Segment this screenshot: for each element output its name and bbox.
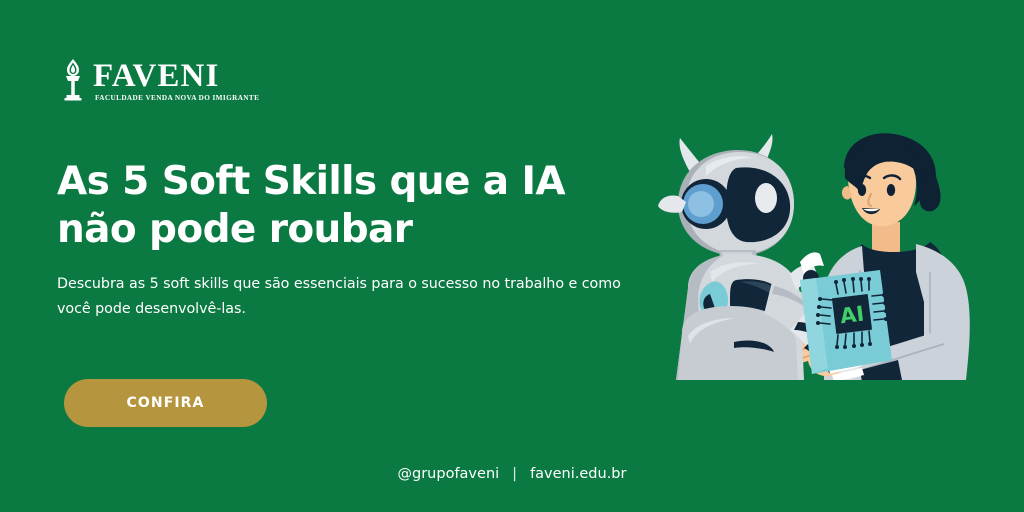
- torch-icon: [60, 58, 86, 102]
- confira-cta-button[interactable]: CONFIRA: [64, 379, 267, 427]
- promotional-banner: FAVENI FACULDADE VENDA NOVA DO IMIGRANTE…: [0, 0, 1024, 512]
- logo-wordmark: FAVENI: [93, 59, 219, 93]
- logo-tagline: FACULDADE VENDA NOVA DO IMIGRANTE: [95, 94, 259, 103]
- page-title: As 5 Soft Skills que a IA não pode rouba…: [57, 158, 617, 254]
- logo-text-group: FAVENI FACULDADE VENDA NOVA DO IMIGRANTE: [93, 58, 256, 103]
- footer-separator: |: [512, 466, 517, 482]
- footer: @grupofaveni | faveni.edu.br: [0, 466, 1024, 482]
- faveni-logo[interactable]: FAVENI FACULDADE VENDA NOVA DO IMIGRANTE: [60, 58, 256, 103]
- ai-card: AI: [800, 270, 892, 374]
- robot-and-woman-illustration: AI: [648, 132, 1024, 380]
- hero-subtitle: Descubra as 5 soft skills que são essenc…: [57, 272, 632, 322]
- social-handle[interactable]: @grupofaveni: [398, 466, 500, 482]
- ai-chip-label: AI: [839, 302, 866, 329]
- website-url[interactable]: faveni.edu.br: [530, 466, 626, 482]
